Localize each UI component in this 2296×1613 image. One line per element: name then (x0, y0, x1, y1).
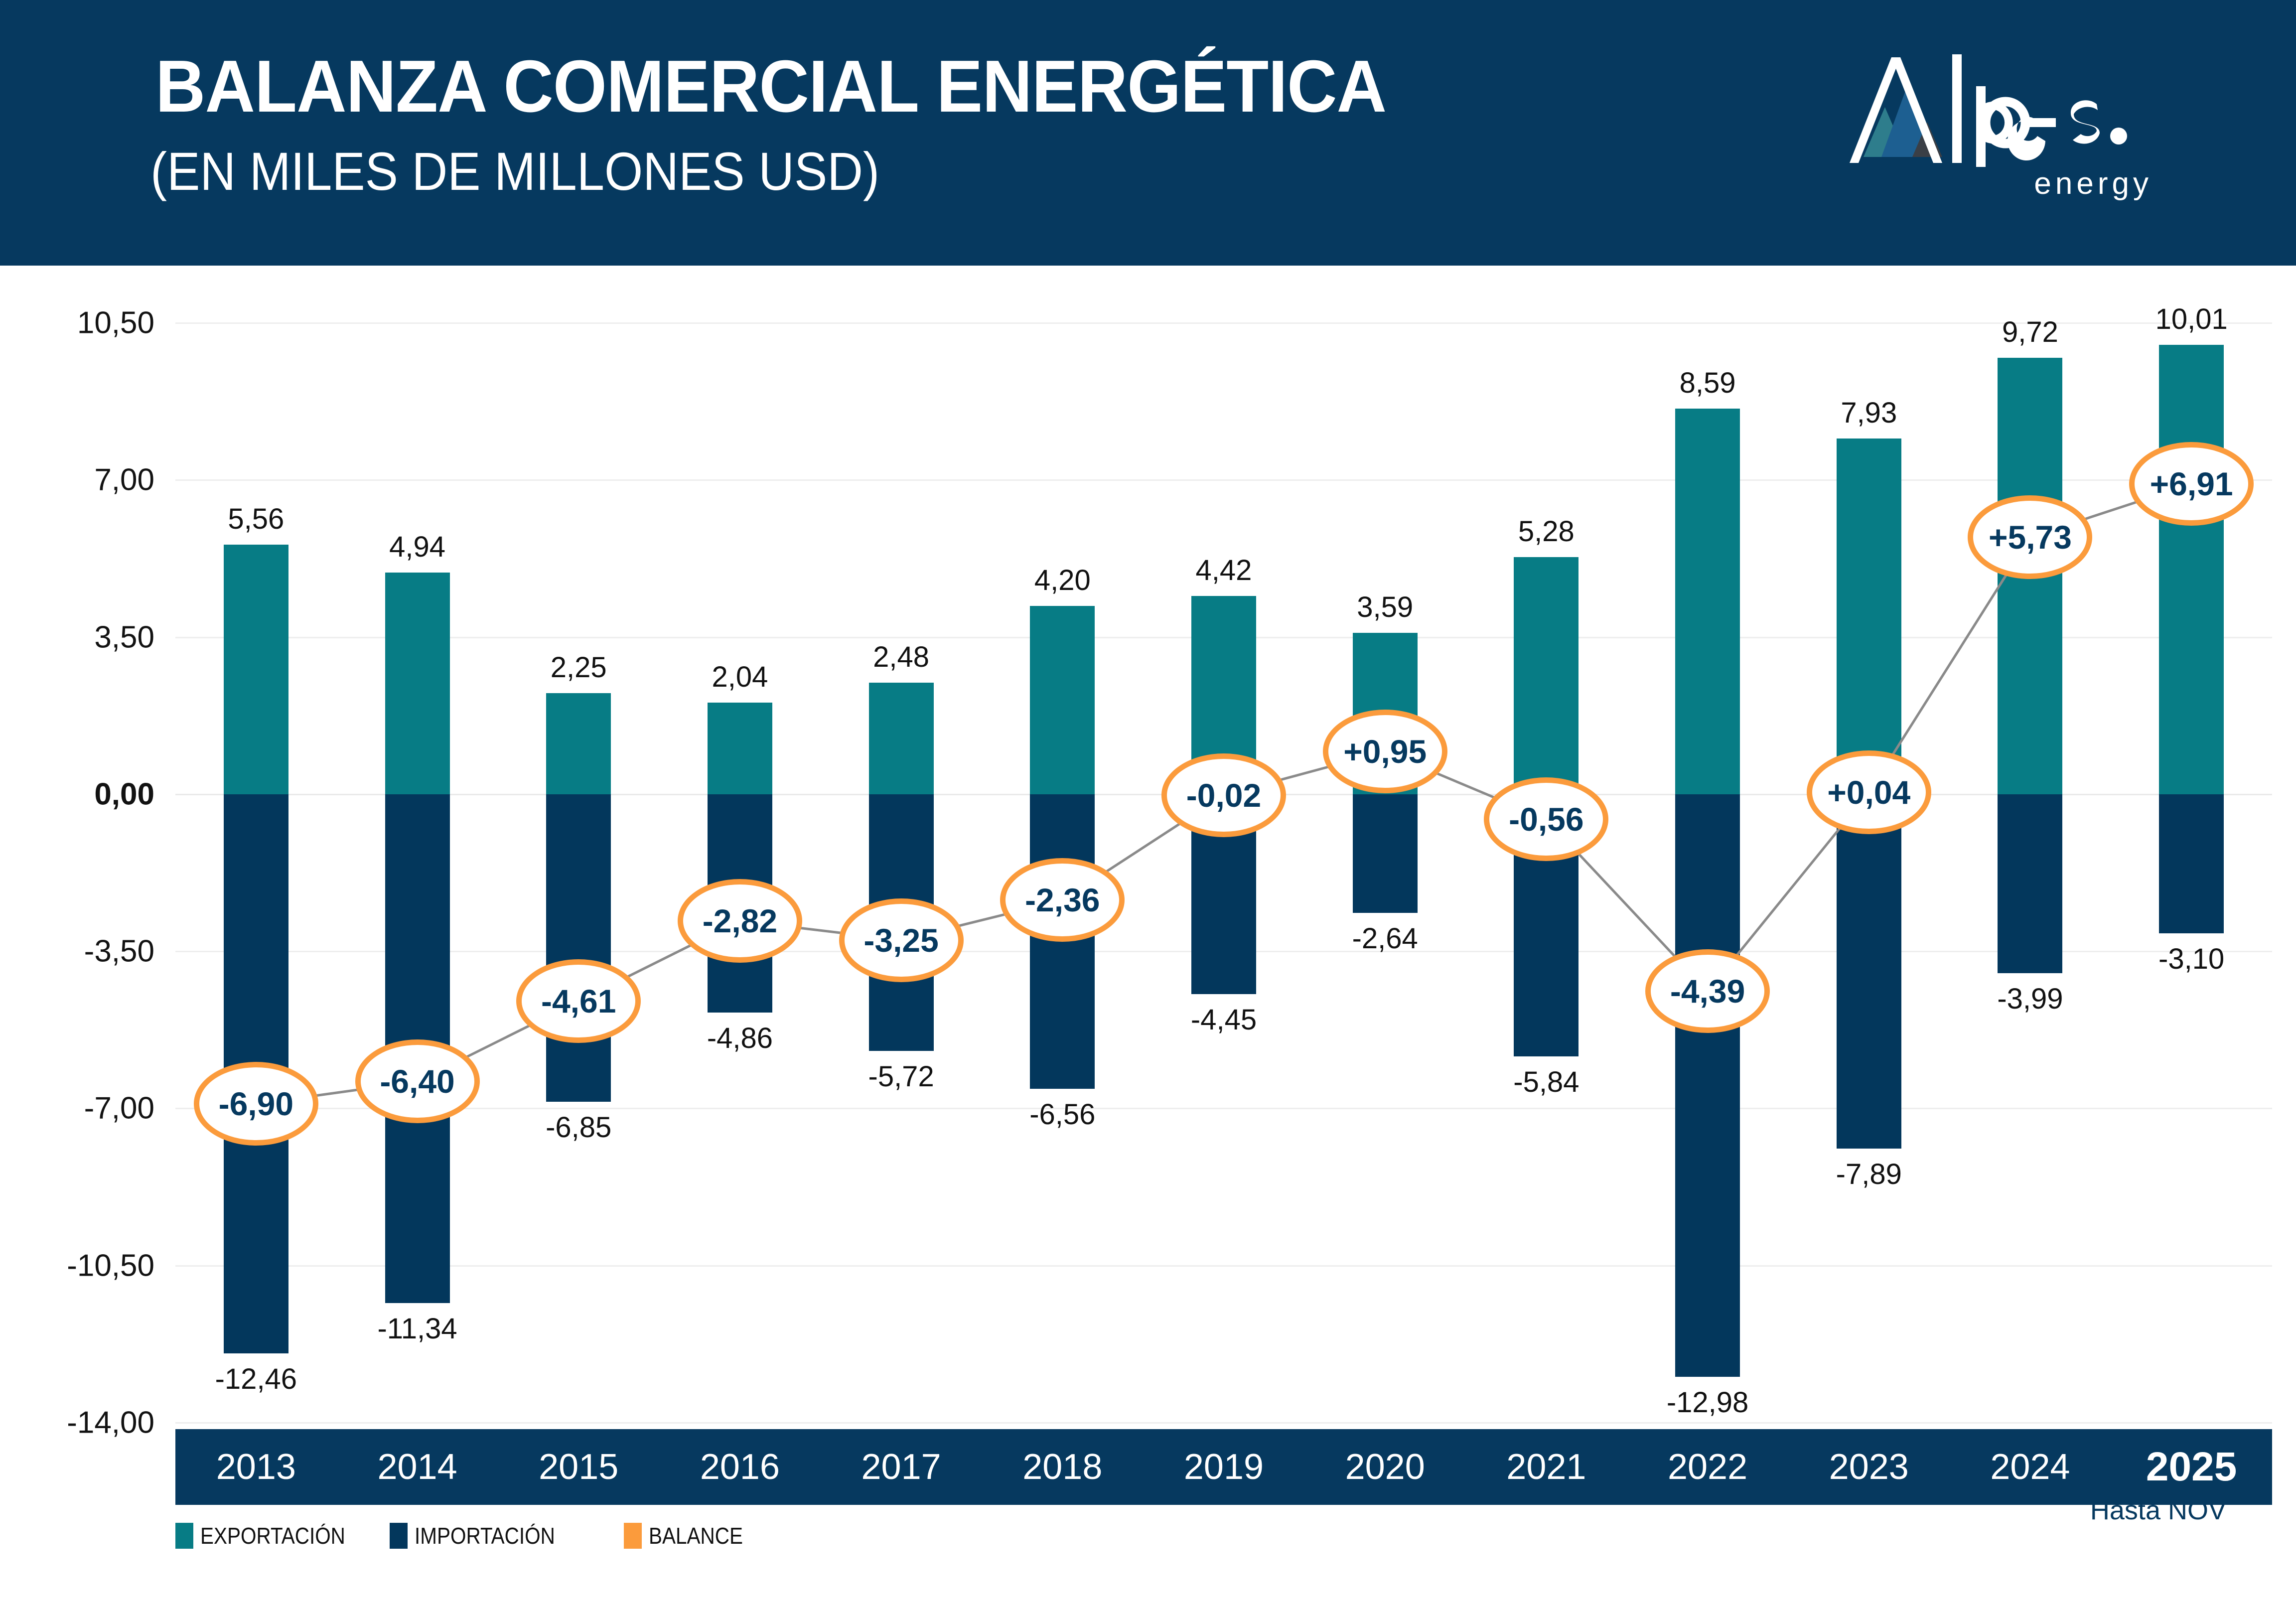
alpes-energy-logo: energy (1794, 47, 2172, 212)
logo-energy-label: energy (2034, 166, 2152, 201)
legend-item[interactable]: EXPORTACIÓN (175, 1522, 365, 1549)
x-axis-year-label[interactable]: 2022 (1627, 1429, 1788, 1505)
x-axis-year-label[interactable]: 2025 (2111, 1429, 2272, 1505)
balance-bubble[interactable]: +0,95 (1323, 710, 1447, 793)
balance-line-connector (0, 266, 2296, 1432)
balance-bubble[interactable]: +0,04 (1807, 750, 1931, 834)
legend-item[interactable]: IMPORTACIÓN (390, 1522, 574, 1549)
legend-label: IMPORTACIÓN (415, 1522, 555, 1549)
balance-bubble[interactable]: -3,25 (839, 898, 964, 982)
legend-label: EXPORTACIÓN (200, 1522, 345, 1549)
footnote-hasta-nov: Hasta NOV (2090, 1495, 2226, 1526)
x-axis-year-label[interactable]: 2024 (1950, 1429, 2111, 1505)
legend-swatch-icon (390, 1523, 408, 1549)
balance-bubble[interactable]: -6,40 (355, 1039, 480, 1123)
page-subtitle: (EN MILES DE MILLONES USD) (150, 145, 879, 198)
x-axis-year-label[interactable]: 2023 (1788, 1429, 1950, 1505)
balance-bubble[interactable]: -0,02 (1161, 753, 1286, 837)
x-axis-year-label[interactable]: 2020 (1304, 1429, 1466, 1505)
balance-bubble[interactable]: -2,36 (1000, 858, 1125, 942)
legend-swatch-icon (175, 1523, 193, 1549)
legend-swatch-icon (624, 1523, 642, 1549)
balance-bubble[interactable]: -6,90 (194, 1062, 318, 1146)
alpes-wordmark-icon (1794, 47, 2143, 167)
x-axis-year-label[interactable]: 2013 (175, 1429, 337, 1505)
x-axis-year-label[interactable]: 2016 (659, 1429, 821, 1505)
legend-label: BALANCE (649, 1522, 743, 1549)
x-axis-year-label[interactable]: 2019 (1143, 1429, 1304, 1505)
x-axis-year-label[interactable]: 2017 (821, 1429, 982, 1505)
balance-bubble[interactable]: -4,61 (516, 959, 641, 1043)
x-axis-year-label[interactable]: 2018 (982, 1429, 1143, 1505)
x-axis-year-label[interactable]: 2014 (337, 1429, 498, 1505)
x-axis-year-label[interactable]: 2015 (498, 1429, 659, 1505)
balance-bubble[interactable]: +6,91 (2129, 442, 2254, 526)
balance-bubble[interactable]: -2,82 (678, 879, 802, 963)
chart-plot-area: 10,507,003,500,00-3,50-7,00-10,50-14,00 … (0, 266, 2296, 1432)
legend-item[interactable]: BALANCE (624, 1522, 756, 1549)
x-axis-year-bar: 2013201420152016201720182019202020212022… (175, 1429, 2272, 1505)
balance-bubble[interactable]: +5,73 (1968, 495, 2092, 579)
page-title: BALANZA COMERCIAL ENERGÉTICA (155, 50, 1386, 124)
x-axis-year-label[interactable]: 2021 (1466, 1429, 1627, 1505)
balance-bubble[interactable]: -0,56 (1484, 777, 1608, 861)
header-banner: BALANZA COMERCIAL ENERGÉTICA (EN MILES D… (0, 0, 2296, 266)
balance-bubble[interactable]: -4,39 (1645, 949, 1770, 1033)
